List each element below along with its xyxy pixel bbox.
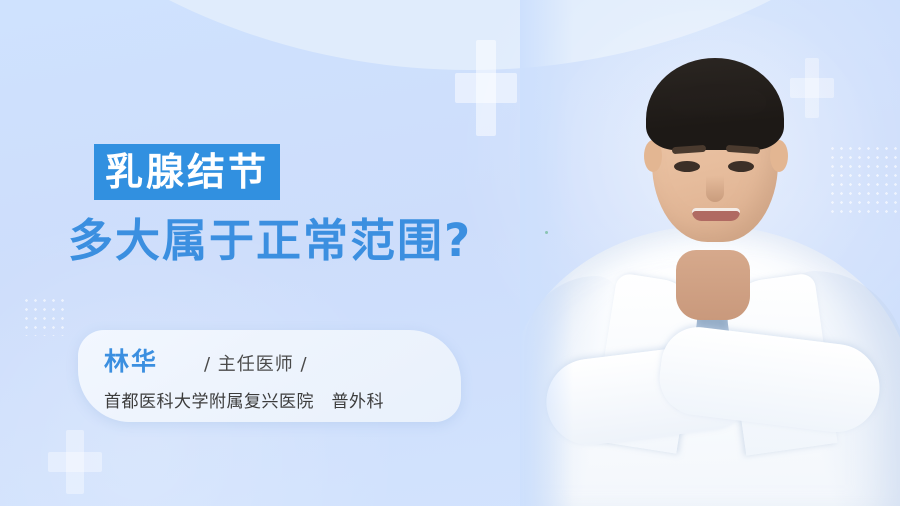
doctor-rank: / 主任医师 /	[204, 350, 308, 376]
eye-right	[728, 161, 754, 172]
doctor-portrait-photo	[520, 0, 900, 506]
eye-left	[674, 161, 700, 172]
mouth-smile	[692, 208, 740, 221]
doctor-name-row: 林华 / 主任医师 /	[104, 342, 439, 378]
doctor-affiliation: 首都医科大学附属复兴医院 普外科	[104, 387, 439, 412]
headline-block: 乳腺结节 多大属于正常范围?	[94, 144, 564, 267]
page-title-badge: 乳腺结节	[94, 144, 280, 200]
doctor-name: 林华	[104, 342, 158, 378]
doctor-credential-card: 林华 / 主任医师 / 首都医科大学附属复兴医院 普外科	[78, 330, 461, 422]
medical-cross-icon	[455, 40, 517, 136]
hair-fringe	[670, 84, 766, 118]
video-thumbnail-poster: 乳腺结节 多大属于正常范围? 林华 / 主任医师 / 首都医科大学附属复兴医院 …	[0, 0, 900, 506]
nose	[706, 176, 724, 202]
dot-grid-decoration	[22, 296, 68, 336]
page-title-subline: 多大属于正常范围?	[68, 214, 564, 267]
neck	[676, 250, 750, 320]
medical-cross-icon	[48, 430, 102, 494]
